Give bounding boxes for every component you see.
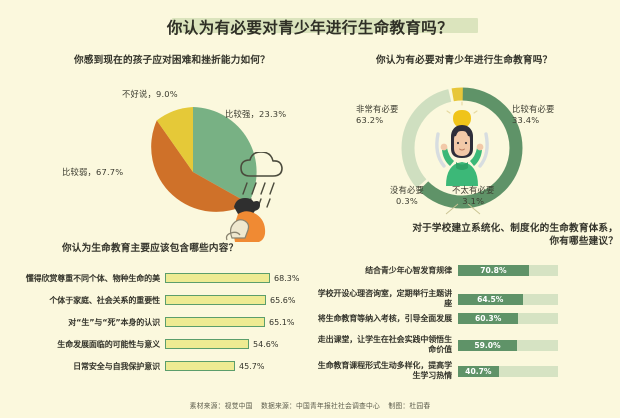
bar-row-suggestion-2: 将生命教育等纳入考核，引导全面发展 60.3% [312,313,620,324]
bar-left-value-3: 54.6% [253,340,278,349]
main-title-container: 你认为有必要对青少年进行生命教育吗？ [0,10,620,44]
donut-label-little-needed-value: 3.1% [452,196,495,207]
bar-right-label-1: 学校开设心理咨询室，定期举行主题讲座 [312,289,458,309]
bar-left-label-0: 懂得欣赏尊重不同个体、物种生命的美 [6,273,165,284]
bar-left-label-4: 日常安全与自我保护意识 [6,361,165,372]
student-figure [441,125,484,186]
bar-right-value-3: 59.0% [474,341,500,350]
donut-label-quite-necessary-name: 比较有必要 [512,104,555,115]
bar-left-fill-2 [165,317,265,327]
bar-left-title: 你认为生命教育主要应该包含哪些内容？ [62,240,238,254]
pie-label-strong: 比较强，23.3% [225,108,286,120]
bar-left-track-4: 45.7% [165,361,264,371]
bar-right-fill-4: 40.7% [458,366,499,377]
bar-left-label-3: 生命发展面临的可能性与意义 [6,339,165,350]
bar-right-track-4: 40.7% [458,366,558,377]
bar-row-content-3: 生命发展面临的可能性与意义 54.6% [6,338,316,350]
sad-child-rain-illustration [220,152,312,242]
footer-credits: 素材来源：视觉中国 数据来源：中国青年报社社会调查中心 制图：杜园春 [0,400,620,410]
donut-label-not-needed-name: 没有必要 [390,185,424,196]
bar-left-value-2: 65.1% [269,318,294,327]
bar-left-track-1: 65.6% [165,295,295,305]
rain-cloud-icon [241,152,282,176]
bar-row-content-4: 日常安全与自我保护意识 45.7% [6,360,316,372]
bar-left-fill-1 [165,295,266,305]
donut-label-little-needed: 不太有必要 3.1% [452,185,495,207]
donut-label-not-needed-value: 0.3% [390,196,424,207]
bar-left-fill-4 [165,361,235,371]
donut-label-very-necessary: 非常有必要 63.2% [356,104,399,126]
bar-right-title-line2: 你有哪些建议？ [330,235,618,248]
bar-left-value-4: 45.7% [239,362,264,371]
bar-right-track-2: 60.3% [458,313,558,324]
page-title: 你认为有必要对青少年进行生命教育吗？ [167,16,453,38]
pie-label-unsure: 不好说，9.0% [122,88,178,100]
bar-right-track-0: 70.8% [458,265,558,276]
pie-chart-title: 你感到现在的孩子应对困难和挫折能力如何？ [74,52,270,66]
bar-row-suggestion-1: 学校开设心理咨询室，定期举行主题讲座 64.5% [312,289,620,309]
bar-left-value-0: 68.3% [274,274,299,283]
bar-left-label-1: 个体于家庭、社会关系的重要性 [6,295,165,306]
chart-bar-school-suggestions: 对于学校建立系统化、制度化的生命教育体系， 你有哪些建议？ 结合青少年心智发育规… [312,255,620,383]
bar-right-label-2: 将生命教育等纳入考核，引导全面发展 [312,314,458,324]
bar-right-track-3: 59.0% [458,340,558,351]
bar-row-suggestion-0: 结合青少年心智发育规律 70.8% [312,265,620,276]
bar-row-content-0: 懂得欣赏尊重不同个体、物种生命的美 68.3% [6,272,316,284]
bar-row-suggestion-3: 走出课堂，让学生在社会实践中领悟生命价值 59.0% [312,335,620,355]
bar-right-title-line1: 对于学校建立系统化、制度化的生命教育体系， [330,222,618,235]
footer-data-source: 数据来源：中国青年报社社会调查中心 [261,402,380,410]
footer-material-source: 素材来源：视觉中国 [190,402,253,410]
bar-left-fill-3 [165,339,249,349]
bar-row-content-1: 个体于家庭、社会关系的重要性 65.6% [6,294,316,306]
bar-left-fill-0 [165,273,270,283]
bar-right-value-2: 60.3% [475,314,501,323]
bar-right-fill-0: 70.8% [458,265,529,276]
chart-pie-coping-ability: 你感到现在的孩子应对困难和挫折能力如何？ 比较弱，67.7% 比较强，23.3%… [60,52,320,242]
bar-right-fill-3: 59.0% [458,340,517,351]
donut-label-very-necessary-name: 非常有必要 [356,104,399,115]
bar-right-fill-2: 60.3% [458,313,518,324]
bar-right-label-3: 走出课堂，让学生在社会实践中领悟生命价值 [312,335,458,355]
bar-row-content-2: 对“生”与“死”本身的认识 65.1% [6,316,316,328]
bar-right-label-0: 结合青少年心智发育规律 [312,266,458,276]
bar-left-track-2: 65.1% [165,317,294,327]
bar-right-track-1: 64.5% [458,294,558,305]
bar-left-value-1: 65.6% [270,296,295,305]
bar-right-fill-1: 64.5% [458,294,523,305]
bar-left-track-3: 54.6% [165,339,278,349]
bar-left-track-0: 68.3% [165,273,299,283]
bar-right-value-0: 70.8% [480,266,506,275]
donut-label-little-needed-name: 不太有必要 [452,185,495,196]
student-lightbulb-illustration [437,102,487,186]
bar-right-value-1: 64.5% [477,295,503,304]
donut-chart-title: 你认为有必要对青少年进行生命教育吗？ [376,52,552,66]
donut-label-very-necessary-value: 63.2% [356,115,399,126]
bar-right-title: 对于学校建立系统化、制度化的生命教育体系， 你有哪些建议？ [330,222,618,248]
infographic-page: 你认为有必要对青少年进行生命教育吗？ 你感到现在的孩子应对困难和挫折能力如何？ … [0,0,620,418]
chart-donut-need-education: 你认为有必要对青少年进行生命教育吗？ [330,52,620,222]
donut-label-quite-necessary: 比较有必要 33.4% [512,104,555,126]
pie-label-weak: 比较弱，67.7% [62,166,123,178]
sitting-child-figure [227,198,266,242]
bar-left-label-2: 对“生”与“死”本身的认识 [6,317,165,328]
chart-bar-education-content: 你认为生命教育主要应该包含哪些内容？ 懂得欣赏尊重不同个体、物种生命的美 68.… [6,240,316,380]
footer-credit: 制图：杜园春 [388,402,430,410]
bar-right-label-4: 生命教育课程形式生动多样化，提高学生学习热情 [312,361,458,381]
donut-label-not-needed: 没有必要 0.3% [390,185,424,207]
bar-row-suggestion-4: 生命教育课程形式生动多样化，提高学生学习热情 40.7% [312,361,620,381]
bar-right-value-4: 40.7% [465,367,491,376]
donut-label-quite-necessary-value: 33.4% [512,115,555,126]
